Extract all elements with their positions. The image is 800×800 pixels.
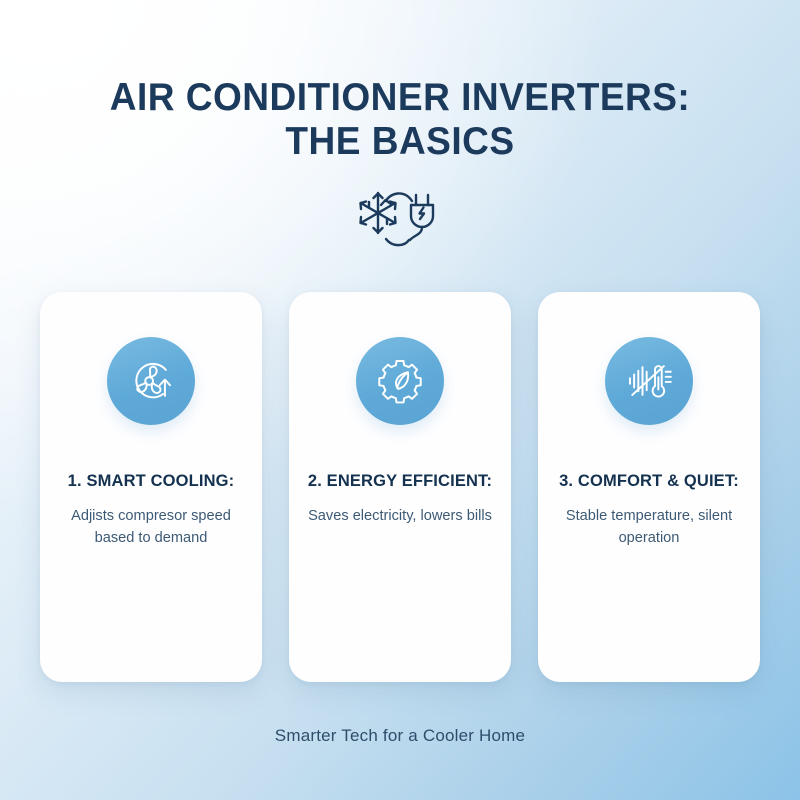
title-line-1: AIR CONDITIONER INVERTERS:: [20, 76, 780, 120]
snowflake-plug-cycle-icon: [348, 183, 452, 255]
card-heading: 2. ENERGY EFFICIENT:: [300, 472, 500, 491]
fan-speed-up-icon: [107, 337, 195, 425]
title-line-2: THE BASICS: [20, 120, 780, 164]
feature-card-row: 1. SMART COOLING: Adjists compresor spee…: [40, 292, 760, 682]
feature-card-smart-cooling[interactable]: 1. SMART COOLING: Adjists compresor spee…: [40, 292, 262, 682]
card-heading: 3. COMFORT & QUIET:: [551, 472, 747, 491]
footer-tagline: Smarter Tech for a Cooler Home: [0, 726, 800, 746]
card-heading: 1. SMART COOLING:: [60, 472, 243, 491]
thermometer-quiet-icon: [605, 337, 693, 425]
feature-card-energy-efficient[interactable]: 2. ENERGY EFFICIENT: Saves electricity, …: [289, 292, 511, 682]
feature-card-comfort-quiet[interactable]: 3. COMFORT & QUIET: Stable temperature, …: [538, 292, 760, 682]
infographic-poster: AIR CONDITIONER INVERTERS: THE BASICS: [0, 0, 800, 800]
page-title: AIR CONDITIONER INVERTERS: THE BASICS: [0, 76, 800, 164]
card-body: Adjists compresor speed based to demand: [40, 505, 262, 549]
card-body: Stable temperature, silent operation: [538, 505, 760, 549]
gear-leaf-icon: [356, 337, 444, 425]
card-body: Saves electricity, lowers bills: [290, 505, 510, 527]
